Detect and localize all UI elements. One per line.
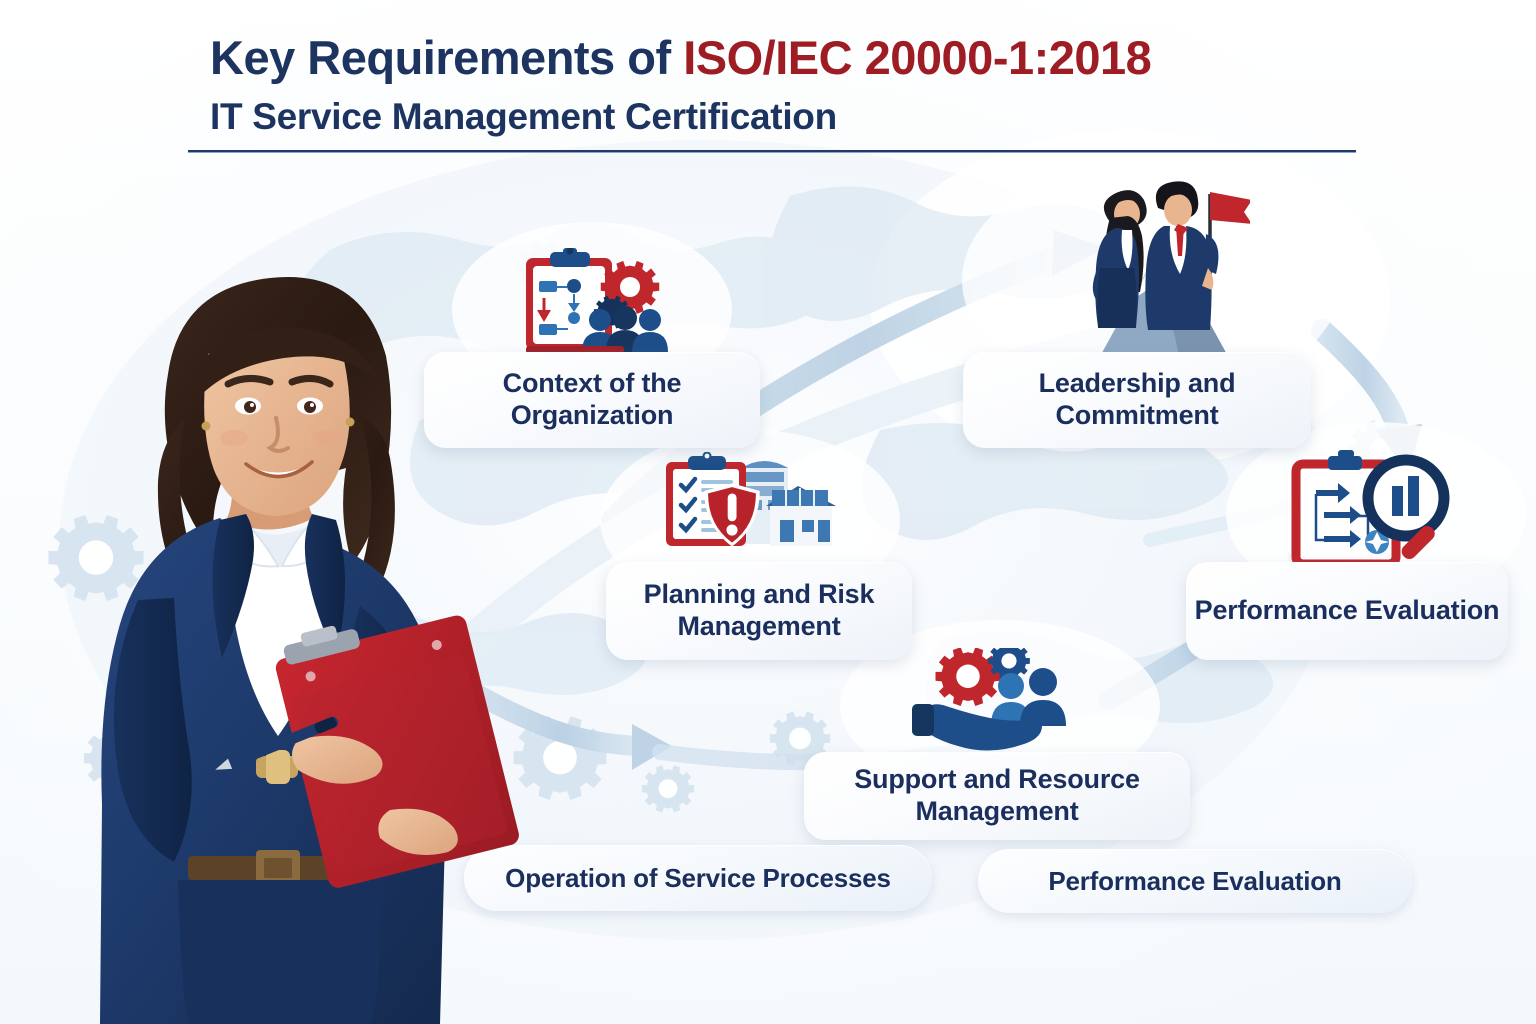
title-standard-code: ISO/IEC 20000-1:2018 [683, 31, 1151, 84]
pill-performance-evaluation[interactable]: Performance Evaluation [978, 849, 1412, 913]
leader-man [1145, 181, 1218, 330]
page-subtitle: IT Service Management Certification [210, 96, 837, 138]
card-label: Support and Resource Management [804, 764, 1190, 828]
clipboard-flowchart-gear-people-icon [508, 248, 678, 360]
card-leadership-and-commitment[interactable]: Leadership and Commitment [963, 352, 1311, 448]
pill-operation-of-service-processes[interactable]: Operation of Service Processes [464, 845, 932, 911]
card-support-and-resource-management[interactable]: Support and Resource Management [804, 752, 1190, 840]
page-title: Key Requirements of ISO/IEC 20000-1:2018 [210, 30, 1151, 85]
title-divider [188, 150, 1356, 153]
pill-label: Operation of Service Processes [505, 863, 891, 894]
card-label: Planning and Risk Management [606, 579, 912, 643]
business-consultant-illustration [60, 270, 530, 1024]
checklist-shield-alert-buildings-icon [660, 452, 840, 570]
team-on-mountain-peak-flag-icon [1060, 178, 1250, 360]
card-performance-evaluation[interactable]: Performance Evaluation [1186, 562, 1508, 660]
card-planning-and-risk-management[interactable]: Planning and Risk Management [606, 562, 912, 660]
clipboard-magnifier-barchart-icon [1282, 450, 1472, 572]
card-label: Performance Evaluation [1195, 595, 1500, 627]
pill-label: Performance Evaluation [1048, 866, 1341, 897]
title-prefix: Key Requirements of [210, 31, 683, 84]
card-label: Leadership and Commitment [963, 368, 1311, 432]
hand-gears-people-icon [906, 648, 1096, 758]
person-graphic [60, 270, 530, 1024]
